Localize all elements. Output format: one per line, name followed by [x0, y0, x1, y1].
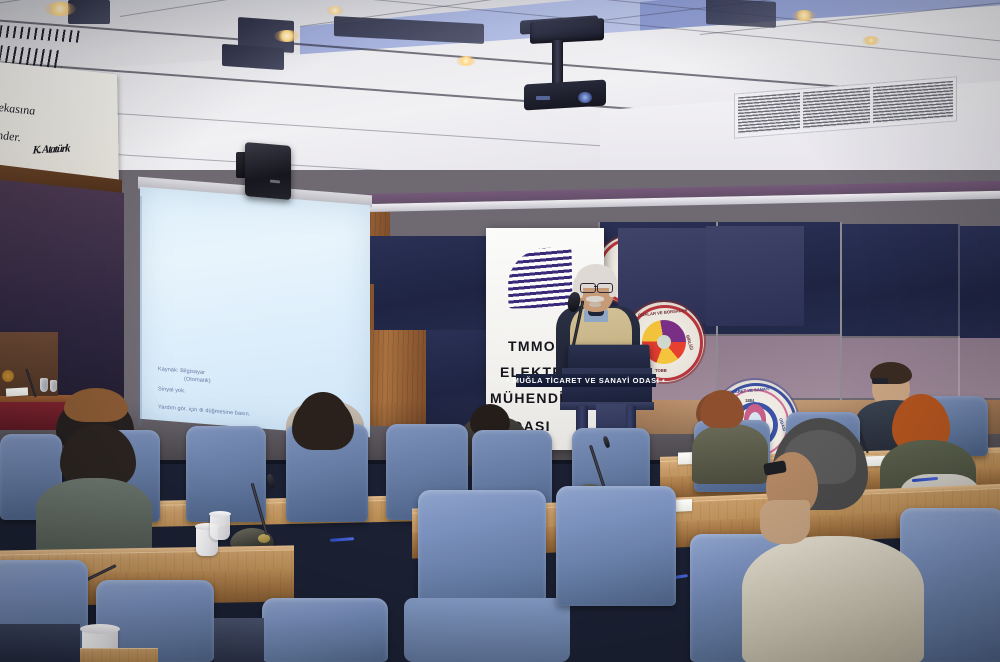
water-glass	[40, 378, 48, 392]
tmmob-emo-logo	[507, 247, 572, 308]
screen-text-line: Kaynak: Bilgisayar	[158, 366, 205, 376]
chair-seat[interactable]	[404, 598, 570, 662]
glasses-icon	[580, 283, 596, 293]
wall-panel	[368, 236, 493, 336]
glasses-icon	[597, 283, 613, 293]
screen-text-line: (Otomatik)	[184, 376, 211, 384]
plaque-line-2: …nder.	[0, 127, 21, 146]
spotlight	[792, 10, 816, 21]
screen-text-line: Yardım gör. için ⊕ düğmesine basın.	[158, 404, 250, 417]
wall-panel	[960, 338, 1000, 398]
glasses-bridge	[594, 286, 597, 287]
spotlight	[456, 56, 476, 66]
floor-foreground	[214, 618, 264, 662]
spotlight	[862, 36, 880, 45]
paper-cup[interactable]	[210, 514, 230, 540]
emblem-ring-text: TOBB	[655, 368, 667, 373]
desk-microphone-indicator	[258, 534, 270, 543]
conference-hall-photo: …ekasına …nder. K. Atatürk Kaynak: Bilgi…	[0, 0, 1000, 662]
loudspeaker-icon	[245, 142, 291, 200]
audience-body-front	[742, 536, 924, 662]
wall-seam	[840, 222, 842, 400]
projector-lens	[578, 92, 592, 103]
pen[interactable]	[330, 537, 354, 542]
chair[interactable]	[556, 486, 676, 606]
emblem-year: 1884	[745, 398, 754, 403]
paper-sheet	[6, 387, 28, 396]
ceiling-equipment-box	[706, 0, 776, 28]
projector-mount-bracket	[530, 18, 604, 44]
audience-body	[36, 478, 152, 556]
paper-cup-rim	[209, 511, 231, 517]
water-glass	[50, 380, 57, 392]
floor-foreground	[0, 624, 80, 662]
projector-unit	[524, 79, 606, 110]
wall-panel	[960, 226, 1000, 338]
tobb-hub	[657, 335, 671, 349]
podium-nameplate: • MUĞLA TİCARET VE SANAYİ ODASI •	[516, 374, 656, 387]
wall-plaque: …ekasına …nder. K. Atatürk	[0, 61, 119, 182]
wall-seam	[958, 224, 960, 400]
projector-indicator	[536, 96, 550, 100]
podium-nameplate-text: • MUĞLA TİCARET VE SANAYİ ODASI •	[507, 376, 666, 385]
ceiling-equipment-box	[222, 44, 284, 70]
glasses-icon	[872, 378, 888, 384]
audience-hair-highlight	[64, 388, 128, 422]
spotlight	[326, 6, 344, 15]
spotlight	[44, 2, 76, 16]
emblem-plate	[706, 226, 804, 326]
speaker-beard	[589, 302, 601, 307]
chair[interactable]	[186, 426, 266, 522]
wall-panel	[842, 224, 960, 336]
screen-text-line: Sinyal yok.	[158, 386, 186, 394]
audience-body	[692, 424, 768, 484]
desk-row-3-left	[74, 648, 158, 662]
plaque-signature: K. Atatürk	[32, 142, 70, 156]
paper-cup-rim	[80, 624, 120, 634]
table-ornament	[2, 370, 14, 382]
projector-drop-pole	[552, 40, 563, 84]
plaque-line-1: …ekasına	[0, 99, 35, 119]
audience-neck	[760, 500, 810, 544]
desk-microphone-head	[266, 473, 276, 488]
chair[interactable]	[262, 598, 388, 662]
spotlight	[274, 30, 300, 42]
screen-left-edge	[138, 196, 142, 426]
